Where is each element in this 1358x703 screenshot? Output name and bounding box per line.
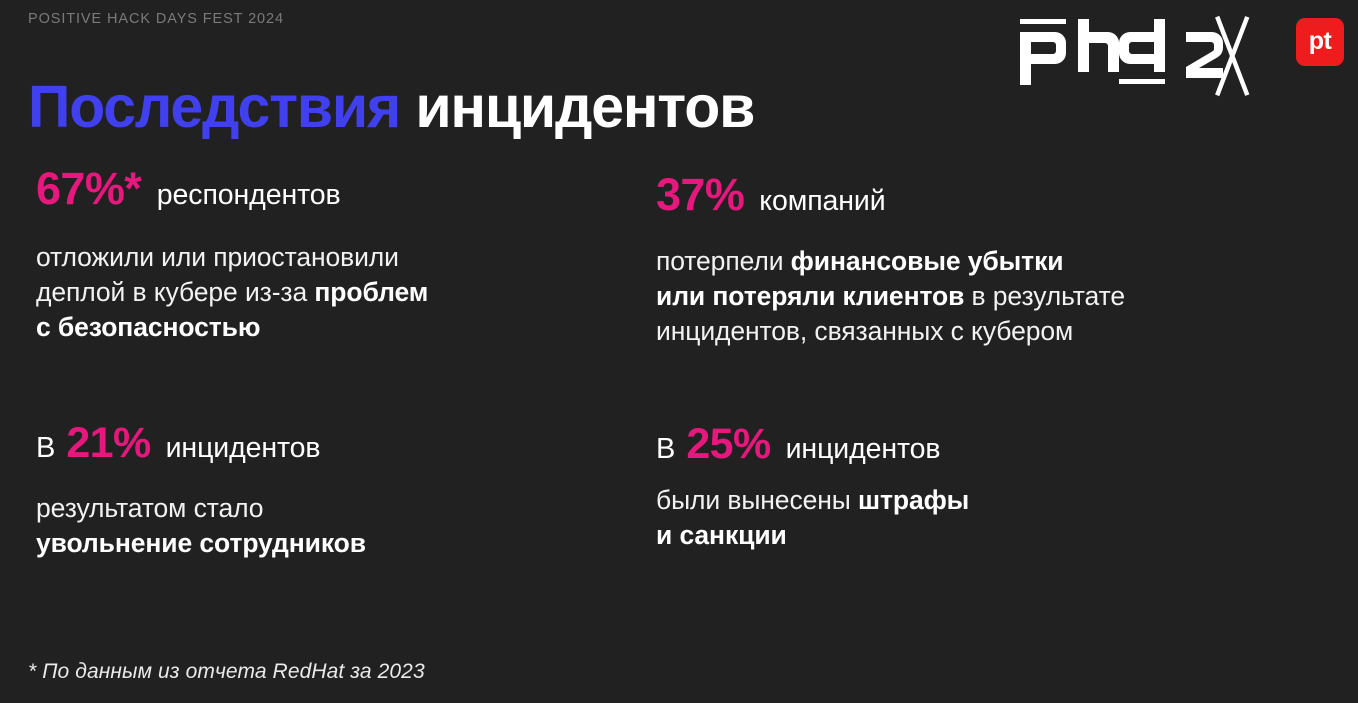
stat-headline: В 21% инцидентов — [36, 422, 622, 465]
stat-unit-label: респондентов — [157, 181, 341, 210]
stat-description: результатом сталоувольнение сотрудников — [36, 491, 596, 561]
page-title: Последствия инцидентов — [28, 78, 754, 137]
stat-block-fines-and-sanctions: В 25% инцидентов были вынесены штрафыи с… — [646, 408, 1358, 598]
stat-description: потерпели финансовые убыткиили потеряли … — [656, 244, 1256, 349]
stat-value: 37% — [656, 172, 744, 217]
stat-unit-label: инцидентов — [786, 435, 941, 464]
title-accent-word: Последствия — [28, 74, 400, 140]
stat-prefix-label: В — [36, 434, 55, 463]
source-footnote: * По данным из отчета RedHat за 2023 — [28, 660, 425, 684]
stat-unit-label: инцидентов — [166, 434, 321, 463]
slide-eyebrow: POSITIVE HACK DAYS FEST 2024 — [28, 11, 284, 27]
stat-block-financial-losses: 37% компаний потерпели финансовые убытки… — [646, 160, 1358, 408]
pt-logo-badge: pt — [1296, 18, 1344, 66]
stat-value: 21% — [66, 422, 150, 465]
stat-row-bottom: В 21% инцидентов результатом сталоувольн… — [0, 408, 1358, 598]
stat-value: 25% — [686, 423, 770, 466]
stat-block-employee-dismissals: В 21% инцидентов результатом сталоувольн… — [0, 408, 646, 598]
stat-prefix-label: В — [656, 435, 675, 464]
stat-value: 67% — [36, 166, 124, 211]
phd-2x-logo-icon — [1018, 6, 1283, 98]
stat-headline: 67%* респондентов — [36, 166, 622, 211]
stat-unit-label: компаний — [759, 187, 885, 216]
stat-description: были вынесены штрафыи санкции — [656, 483, 1216, 553]
title-plain-word: инцидентов — [415, 74, 754, 140]
stat-block-deployments-delayed: 67%* респондентов отложили или приостано… — [0, 160, 646, 408]
stat-headline: 37% компаний — [656, 172, 1334, 217]
brand-logo-lockup: pt — [1018, 6, 1344, 98]
stat-description: отложили или приостановилидеплой в кубер… — [36, 240, 596, 345]
pt-badge-label: pt — [1309, 29, 1331, 54]
statistics-grid: 67%* респондентов отложили или приостано… — [0, 160, 1358, 598]
stat-headline: В 25% инцидентов — [656, 423, 1334, 466]
stat-row-top: 67%* респондентов отложили или приостано… — [0, 160, 1358, 408]
stat-footnote-marker: * — [124, 166, 142, 211]
slide-root: POSITIVE HACK DAYS FEST 2024 Последствия… — [0, 0, 1358, 703]
